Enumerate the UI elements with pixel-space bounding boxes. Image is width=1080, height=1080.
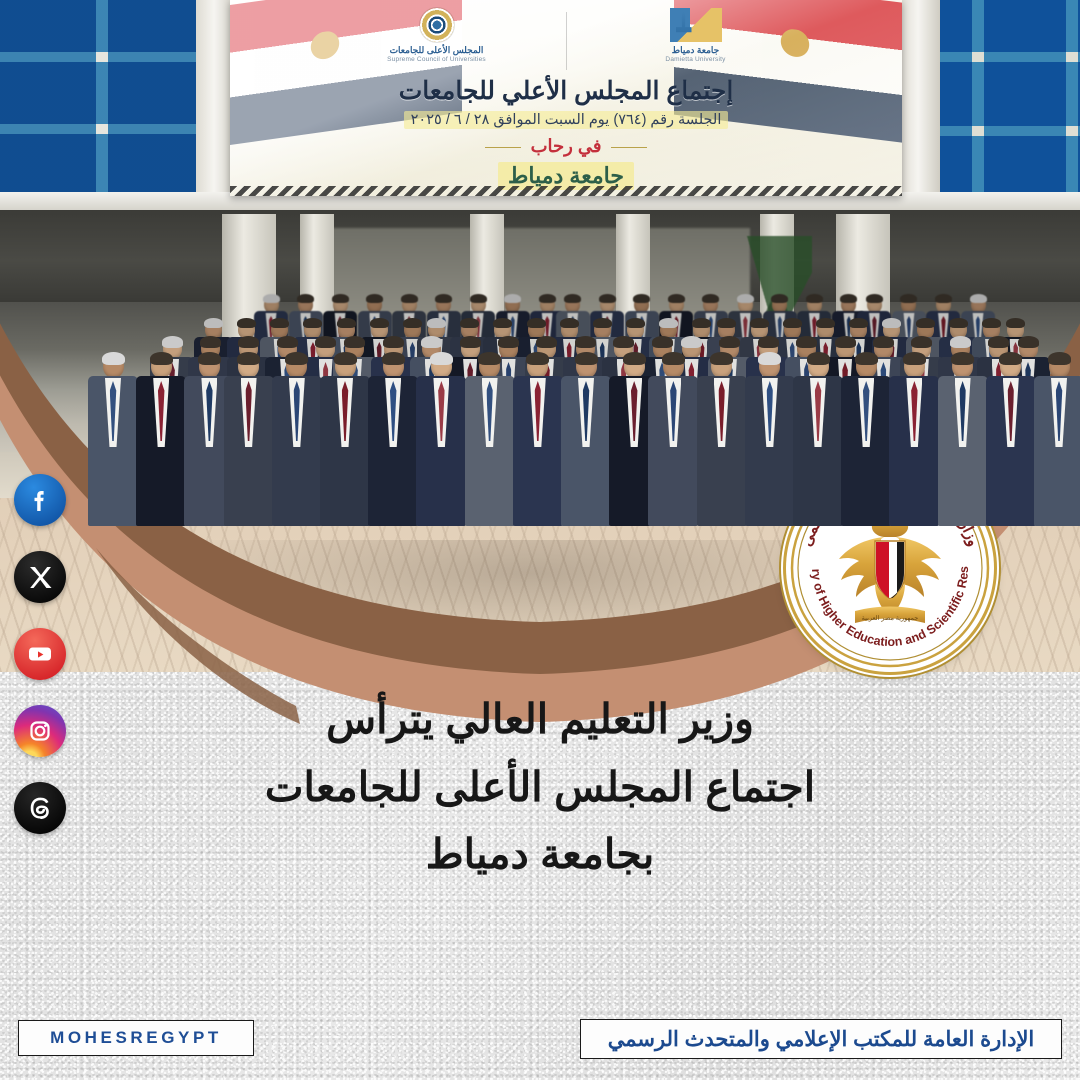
person-head [663,354,684,378]
person-head [808,354,829,378]
person-hair [758,336,779,348]
person [224,354,274,526]
person-hair [493,318,512,328]
person [465,354,515,526]
person-hair [662,352,685,365]
damietta-university-emblem-icon [670,8,722,42]
person-suit [416,376,466,526]
banner-zigzag-edge [230,186,902,196]
person-hair [816,318,835,328]
person-suit [368,376,418,526]
person-hair [401,294,418,303]
person [889,354,939,526]
threads-icon[interactable] [14,782,66,834]
person-hair [796,336,817,348]
person-suit [224,376,274,526]
person-suit [648,376,698,526]
handle-text: MOHESREGYPT [50,1028,222,1048]
person-hair [263,294,280,303]
handle-badge: MOHESREGYPT [18,1020,254,1056]
person-hair [916,318,935,328]
instagram-icon[interactable] [14,705,66,757]
person-hair [758,352,781,365]
person-hair [681,336,702,348]
person [88,354,138,526]
department-text: الإدارة العامة للمكتب الإعلامي والمتحدث … [608,1027,1035,1052]
department-badge: الإدارة العامة للمكتب الإعلامي والمتحدث … [580,1019,1062,1059]
person-hair [237,352,260,365]
person-hair [1018,336,1039,348]
person-suit [88,376,138,526]
person-head [952,354,973,378]
person-head [856,354,877,378]
damietta-caption-ar: جامعة دمياط [672,45,719,56]
person-hair [200,336,221,348]
headline-line-3: بجامعة دمياط [60,821,1020,889]
person-hair [470,294,487,303]
person-head [286,354,307,378]
person-hair [102,352,125,365]
person-hair [903,352,926,365]
person-head [479,354,500,378]
person-head [576,354,597,378]
person-hair [539,294,556,303]
person-hair [237,318,256,328]
person-hair [599,294,616,303]
headline: وزير التعليم العالي يترأس اجتماع المجلس … [60,686,1020,889]
supreme-council-caption-ar: المجلس الأعلى للجامعات [390,45,484,56]
person-head [711,354,732,378]
person [938,354,988,526]
logo-divider [566,12,567,70]
supreme-council-of-universities-emblem-icon [420,8,454,42]
person-hair [750,318,769,328]
person-hair [840,294,857,303]
person [320,354,370,526]
person-hair [950,336,971,348]
person-hair [949,318,968,328]
person-suit [793,376,843,526]
person-hair [382,352,405,365]
person [841,354,891,526]
person-hair [575,336,596,348]
person-hair [150,352,173,365]
person-hair [807,352,830,365]
person [1034,354,1080,526]
person-head [431,354,452,378]
person-hair [204,318,223,328]
person-head [1000,354,1021,378]
damietta-caption-en: Damietta University [665,56,725,63]
person-hair [593,318,612,328]
person-hair [806,294,823,303]
banner-logo-row: المجلس الأعلى للجامعات Supreme Council o… [362,8,771,74]
person-suit [136,376,186,526]
person-hair [613,336,634,348]
person-hair [527,318,546,328]
supreme-council-logo: المجلس الأعلى للجامعات Supreme Council o… [362,8,512,63]
person-hair [783,318,802,328]
person-hair [935,294,952,303]
x-icon[interactable] [14,551,66,603]
person-hair [427,318,446,328]
person [986,354,1036,526]
person-hair [344,336,365,348]
person-suit [745,376,795,526]
person-hair [1048,352,1071,365]
person-hair [526,352,549,365]
person-head [904,354,925,378]
person-hair [383,336,404,348]
person-hair [719,336,740,348]
person-hair [536,336,557,348]
person-hair [659,318,678,328]
social-media-card: المجلس الأعلى للجامعات Supreme Council o… [0,0,1080,1080]
person-suit [1034,376,1080,526]
person-hair [835,336,856,348]
person-hair [421,336,442,348]
person-head [1049,354,1070,378]
damietta-university-logo: جامعة دمياط Damietta University [621,8,771,63]
person-hair [564,294,581,303]
person [697,354,747,526]
social-links [14,474,66,834]
person-hair [1006,318,1025,328]
person-hair [623,352,646,365]
person-hair [334,352,357,365]
person-hair [717,318,736,328]
person [513,354,563,526]
person-hair [882,318,901,328]
person-hair [303,318,322,328]
person-hair [478,352,501,365]
person [561,354,611,526]
banner-title: إجتماع المجلس الأعلي للجامعات [399,76,734,106]
youtube-icon[interactable] [14,628,66,680]
person-hair [710,352,733,365]
person-hair [198,352,221,365]
person-hair [162,336,183,348]
person-hair [297,294,314,303]
supreme-council-caption-en: Supreme Council of Universities [387,56,486,63]
person-hair [771,294,788,303]
person-hair [849,318,868,328]
person-suit [697,376,747,526]
person-hair [435,294,452,303]
person-hair [633,294,650,303]
person-hair [430,352,453,365]
ministry-scroll-text: جمهورية مصر العربية [862,614,919,622]
person-hair [460,336,481,348]
person-head [335,354,356,378]
person-hair [238,336,259,348]
person-head [199,354,220,378]
person-hair [855,352,878,365]
person-hair [970,294,987,303]
headline-line-1: وزير التعليم العالي يترأس [60,686,1020,754]
person-hair [460,318,479,328]
person-hair [504,294,521,303]
person-suit [841,376,891,526]
person [648,354,698,526]
person-hair [873,336,894,348]
person-hair [285,352,308,365]
person-suit [465,376,515,526]
event-banner: المجلس الأعلى للجامعات Supreme Council o… [230,0,902,196]
person-hair [370,318,389,328]
person [793,354,843,526]
person-head [383,354,404,378]
person-hair [951,352,974,365]
banner-subtitle: الجلسة رقم (٧٦٤) يوم السبت الموافق ٢٨ / … [404,111,729,129]
person-hair [270,318,289,328]
person-suit [272,376,322,526]
person-head [238,354,259,378]
headline-line-2: اجتماع المجلس الأعلى للجامعات [60,754,1020,822]
person-hair [866,294,883,303]
person [136,354,186,526]
person-hair [366,294,383,303]
banner-in-rihab: في رحاب [485,136,648,157]
person-head [759,354,780,378]
person-hair [560,318,579,328]
facebook-icon[interactable] [14,474,66,526]
person-hair [332,294,349,303]
person-hair [737,294,754,303]
person-suit [561,376,611,526]
person-head [527,354,548,378]
person-head [103,354,124,378]
person-hair [911,336,932,348]
person [416,354,466,526]
person-hair [626,318,645,328]
person-suit [986,376,1036,526]
person-hair [277,336,298,348]
person-hair [668,294,685,303]
person-hair [575,352,598,365]
person-hair [337,318,356,328]
person-hair [498,336,519,348]
person-hair [900,294,917,303]
person-head [624,354,645,378]
person-suit [513,376,563,526]
person-hair [999,352,1022,365]
person-head [151,354,172,378]
person-suit [938,376,988,526]
person [745,354,795,526]
person-hair [702,294,719,303]
person [368,354,418,526]
person-suit [889,376,939,526]
person-suit [320,376,370,526]
person [272,354,322,526]
